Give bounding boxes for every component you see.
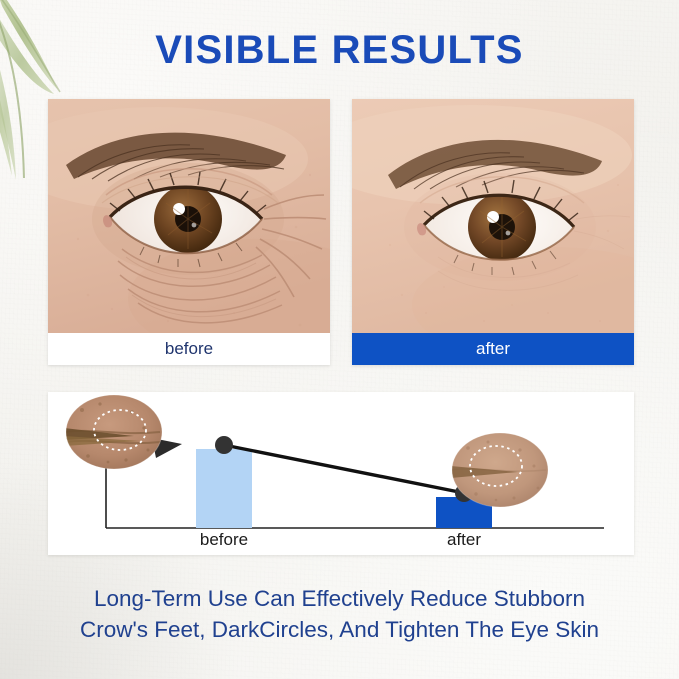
tagline-line-2: Crow's Feet, DarkCircles, And Tighten Th…: [0, 614, 679, 645]
after-photo-card: after: [352, 99, 634, 365]
magnified-wrinkled-skin-icon: [64, 395, 182, 469]
marketing-image-canvas: VISIBLE RESULTS: [0, 0, 679, 679]
before-label: before: [48, 333, 330, 365]
bar-before: [196, 449, 252, 528]
trend-marker-before: [215, 436, 233, 454]
after-label: after: [352, 333, 634, 365]
page-title: VISIBLE RESULTS: [0, 28, 679, 73]
tagline-line-1: Long-Term Use Can Effectively Reduce Stu…: [0, 583, 679, 614]
before-photo-card: before: [48, 99, 330, 365]
eye-closeup-smooth-photo: [352, 99, 634, 333]
trend-line: [224, 445, 464, 493]
chart-label-before: before: [176, 530, 272, 550]
eye-closeup-wrinkled-photo: [48, 99, 330, 333]
tagline: Long-Term Use Can Effectively Reduce Stu…: [0, 583, 679, 645]
results-bar-chart: before after: [48, 392, 634, 555]
chart-label-after: after: [416, 530, 512, 550]
